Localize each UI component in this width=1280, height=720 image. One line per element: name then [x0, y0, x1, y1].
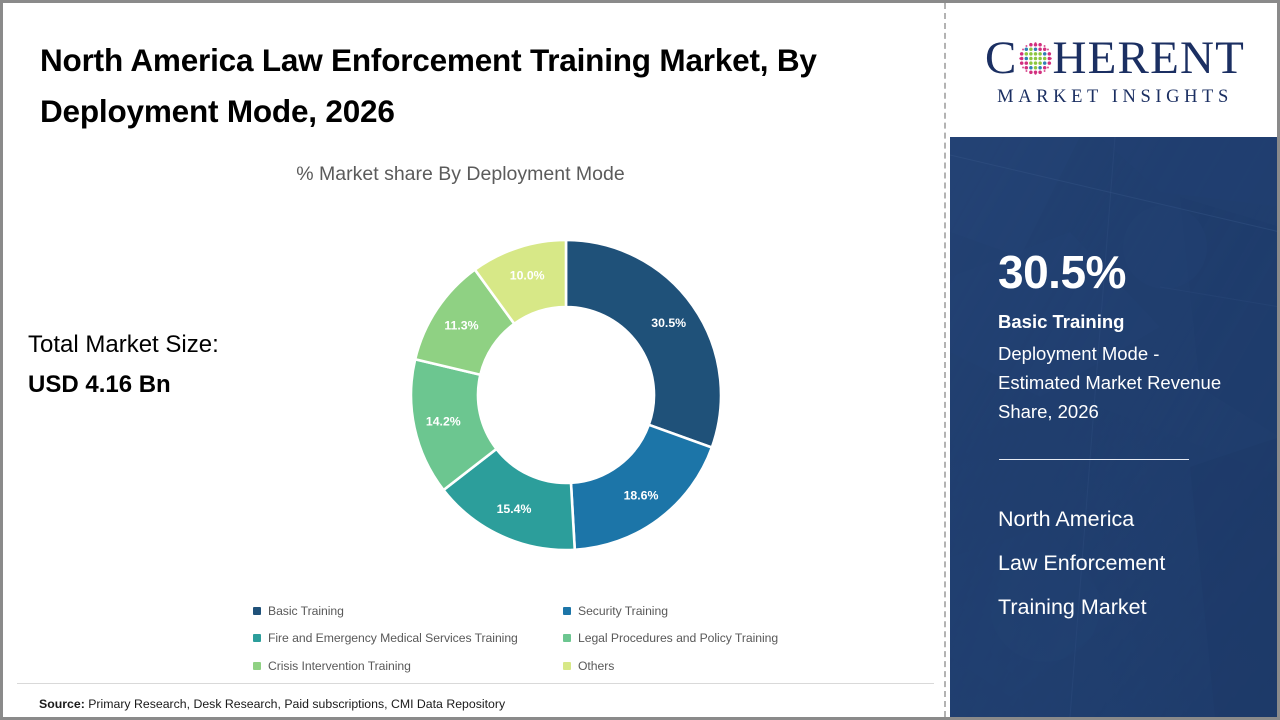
globe-dot [1024, 65, 1028, 69]
highlight-market-name: North America Law Enforcement Training M… [998, 497, 1253, 629]
legend-item[interactable]: Security Training [563, 604, 853, 618]
market-name-line-1: North America [998, 497, 1253, 541]
highlight-panel: 30.5% Basic Training Deployment Mode - E… [950, 137, 1280, 717]
legend-label: Security Training [578, 604, 668, 618]
globe-dot [1025, 45, 1027, 47]
globe-dot [1049, 57, 1051, 59]
globe-dot [1022, 66, 1024, 68]
legend-label: Fire and Emergency Medical Services Trai… [268, 631, 518, 645]
globe-dot [1029, 42, 1031, 44]
globe-dot [1019, 57, 1021, 59]
globe-dot [1039, 72, 1041, 74]
donut-slice-label: 18.6% [624, 489, 659, 503]
globe-dot [1043, 69, 1045, 71]
donut-slice [566, 240, 721, 448]
source-text: Primary Research, Desk Research, Paid su… [88, 697, 505, 711]
infographic-page: North America Law Enforcement Training M… [0, 0, 1280, 720]
legend-item[interactable]: Fire and Emergency Medical Services Trai… [253, 631, 563, 645]
globe-dot [1029, 52, 1033, 56]
globe-dot [1039, 42, 1041, 44]
highlight-percent: 30.5% [998, 249, 1126, 295]
highlight-description: Deployment Mode - Estimated Market Reven… [998, 339, 1238, 427]
donut-chart: 30.5%18.6%15.4%14.2%11.3%10.0% [401, 225, 731, 565]
footer-divider [17, 683, 934, 684]
donut-slice-label: 11.3% [444, 318, 478, 332]
highlight-segment-name: Basic Training [998, 313, 1124, 332]
globe-dot [1046, 66, 1048, 68]
globe-dot [1038, 61, 1042, 65]
globe-dot [1042, 47, 1046, 51]
source-note: Source: Primary Research, Desk Research,… [39, 697, 505, 711]
total-market-size-label: Total Market Size: [28, 325, 219, 365]
globe-dot [1042, 61, 1046, 65]
globe-dot [1029, 61, 1033, 65]
globe-dot [1038, 65, 1042, 69]
legend-item[interactable]: Basic Training [253, 604, 563, 618]
globe-dot [1034, 72, 1036, 74]
logo-letter-c: C [985, 35, 1018, 82]
legend-item[interactable]: Legal Procedures and Policy Training [563, 631, 853, 645]
globe-dot [1033, 52, 1037, 56]
legend-swatch [253, 607, 261, 615]
market-name-line-3: Training Market [998, 585, 1253, 629]
globe-dot [1029, 56, 1033, 60]
legend-swatch [253, 662, 261, 670]
globe-dot [1042, 56, 1046, 60]
donut-slice-label: 10.0% [510, 269, 545, 283]
total-market-size: Total Market Size: USD 4.16 Bn [28, 325, 219, 406]
legend-swatch [563, 607, 571, 615]
page-title: North America Law Enforcement Training M… [40, 35, 820, 137]
highlight-divider [999, 459, 1189, 460]
legend-item[interactable]: Others [563, 659, 853, 673]
logo-tagline: MARKET INSIGHTS [997, 87, 1233, 108]
legend-label: Others [578, 659, 614, 673]
chart-panel: North America Law Enforcement Training M… [3, 3, 947, 717]
globe-dot [1038, 56, 1042, 60]
globe-dot [1033, 65, 1037, 69]
globe-dot [1038, 47, 1042, 51]
legend-swatch [563, 634, 571, 642]
chart-legend: Basic TrainingSecurity TrainingFire and … [253, 597, 853, 680]
globe-dot [1049, 62, 1051, 64]
globe-dot [1019, 62, 1021, 64]
donut-chart-svg: 30.5%18.6%15.4%14.2%11.3%10.0% [401, 225, 731, 565]
brand-logo: C HERENT MARKET INSIGHTS [950, 3, 1280, 137]
globe-dot [1038, 52, 1042, 56]
globe-dot [1029, 47, 1033, 51]
source-label: Source: [39, 697, 85, 711]
globe-dot [1025, 69, 1027, 71]
legend-swatch [253, 634, 261, 642]
globe-dot [1029, 65, 1033, 69]
globe-dot [1024, 52, 1028, 56]
globe-dot [1043, 45, 1045, 47]
highlight-content: 30.5% Basic Training Deployment Mode - E… [950, 137, 1280, 717]
globe-dot [1022, 48, 1024, 50]
globe-dot [1033, 47, 1037, 51]
donut-slice-label: 30.5% [651, 316, 686, 330]
globe-dot [1024, 47, 1028, 51]
globe-dot [1024, 56, 1028, 60]
logo-wordmark: C HERENT [985, 33, 1245, 85]
legend-label: Legal Procedures and Policy Training [578, 631, 778, 645]
globe-dot [1029, 72, 1031, 74]
total-market-size-value: USD 4.16 Bn [28, 365, 219, 405]
globe-dot [1042, 52, 1046, 56]
globe-dot [1034, 42, 1036, 44]
globe-dot [1033, 56, 1037, 60]
panel-divider [944, 3, 946, 717]
legend-item[interactable]: Crisis Intervention Training [253, 659, 563, 673]
globe-dot [1042, 65, 1046, 69]
logo-word-herent: HERENT [1053, 35, 1246, 82]
globe-dot [1046, 48, 1048, 50]
globe-dot [1024, 61, 1028, 65]
globe-dots-icon [1019, 42, 1052, 75]
legend-label: Crisis Intervention Training [268, 659, 411, 673]
globe-dot [1049, 52, 1051, 54]
donut-slice [571, 425, 712, 550]
legend-swatch [563, 662, 571, 670]
market-name-line-2: Law Enforcement [998, 541, 1253, 585]
legend-label: Basic Training [268, 604, 344, 618]
chart-subtitle: % Market share By Deployment Mode [3, 163, 918, 186]
globe-dot [1033, 61, 1037, 65]
donut-slice-label: 15.4% [497, 502, 532, 516]
globe-dot [1019, 52, 1021, 54]
donut-slice-label: 14.2% [426, 415, 461, 429]
